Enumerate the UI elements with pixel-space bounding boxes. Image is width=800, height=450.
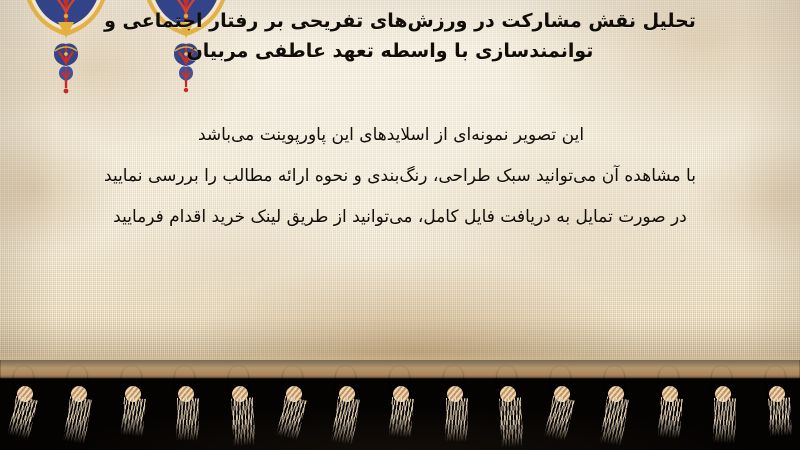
tassel-threads bbox=[600, 396, 629, 446]
tassel-threads bbox=[120, 397, 145, 437]
tassel-threads bbox=[657, 397, 682, 439]
slide-body: این تصویر نمونه‌ای از اسلایدهای این پاور… bbox=[16, 115, 784, 238]
carpet-fringe-tassels bbox=[0, 366, 800, 450]
body-line-1: این تصویر نمونه‌ای از اسلایدهای این پاور… bbox=[16, 115, 784, 156]
fringe-tassel bbox=[112, 366, 152, 446]
tassel-threads bbox=[499, 397, 524, 447]
tassel-threads bbox=[389, 397, 414, 438]
slide-title: تحلیل نقش مشارکت در ورزش‌های تفریحی بر ر… bbox=[10, 6, 790, 66]
fringe-tassel bbox=[649, 366, 689, 446]
fringe-tassel bbox=[541, 366, 581, 446]
fringe-tassel bbox=[326, 366, 366, 446]
tassel-threads bbox=[177, 398, 200, 441]
body-line-2: با مشاهده آن می‌توانید سبک طراحی، رنگ‌بن… bbox=[16, 156, 784, 197]
tassel-threads bbox=[7, 396, 37, 440]
body-line-3: در صورت تمایل به دریافت فایل کامل، می‌تو… bbox=[16, 197, 784, 238]
slide-canvas: تحلیل نقش مشارکت در ورزش‌های تفریحی بر ر… bbox=[0, 0, 800, 450]
fringe-tassel bbox=[380, 366, 420, 446]
tassel-threads bbox=[63, 396, 92, 444]
text-layer: تحلیل نقش مشارکت در ورزش‌های تفریحی بر ر… bbox=[0, 0, 800, 378]
tassel-threads bbox=[768, 397, 792, 436]
fringe-tassel bbox=[4, 366, 44, 446]
tassel-threads bbox=[331, 396, 360, 445]
fringe-tassel bbox=[58, 366, 98, 446]
fringe-tassel bbox=[487, 366, 527, 446]
tassel-threads bbox=[445, 398, 468, 442]
fringe-tassel bbox=[219, 366, 259, 446]
tassel-threads bbox=[231, 397, 255, 446]
title-line-1: تحلیل نقش مشارکت در ورزش‌های تفریحی بر ر… bbox=[10, 6, 790, 36]
tassel-threads bbox=[544, 396, 575, 442]
fringe-tassel bbox=[434, 366, 474, 446]
fringe-tassel bbox=[595, 366, 635, 446]
fringe-tassel bbox=[756, 366, 796, 446]
tassel-threads bbox=[276, 396, 307, 441]
title-line-2: توانمندسازی با واسطه تعهد عاطفی مربیان bbox=[10, 36, 790, 66]
tassel-threads bbox=[714, 398, 737, 443]
fringe-tassel bbox=[273, 366, 313, 446]
fringe-tassel bbox=[165, 366, 205, 446]
fringe-tassel bbox=[702, 366, 742, 446]
